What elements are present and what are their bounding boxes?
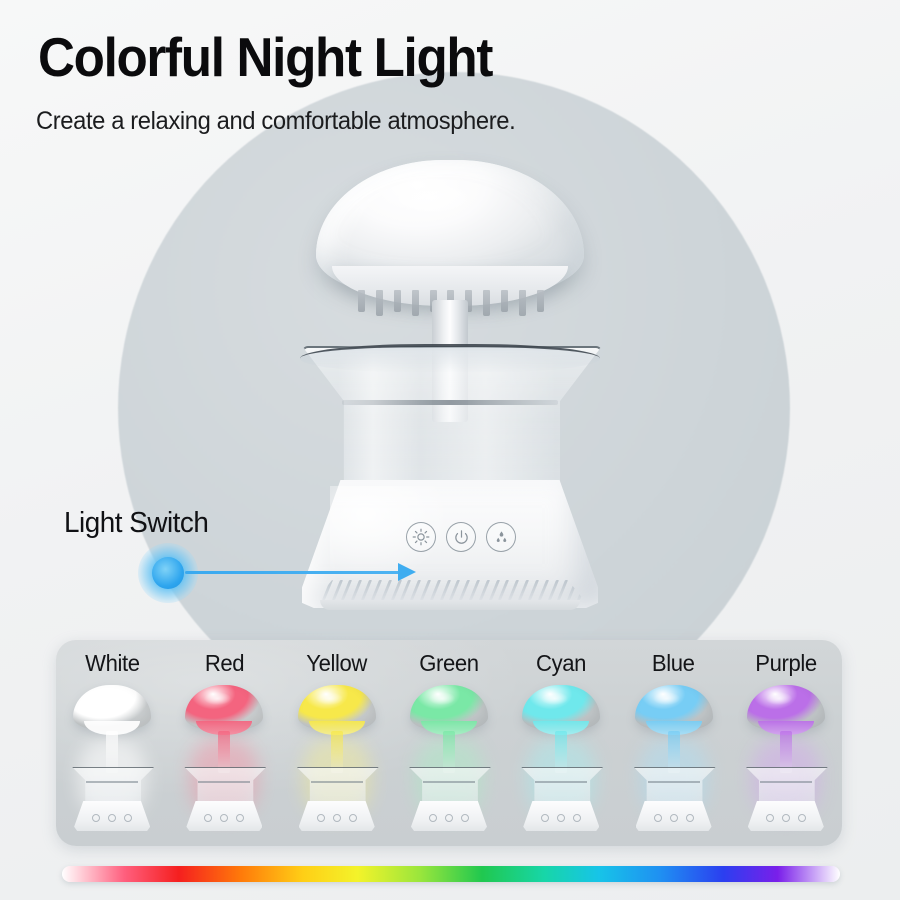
color-swatch-blue[interactable]: Blue (617, 640, 729, 846)
mini-mist-icon (573, 814, 581, 822)
mini-controls (429, 814, 469, 821)
control-panel (406, 522, 516, 552)
mini-brightness-icon (92, 814, 100, 822)
mist-button[interactable] (486, 522, 516, 552)
mini-power-icon (782, 814, 790, 822)
page-subtitle: Create a relaxing and comfortable atmosp… (36, 105, 515, 137)
color-swatch-label: Green (419, 650, 478, 677)
rainbow-gradient-bar (62, 866, 840, 882)
mini-power-icon (108, 814, 116, 822)
mini-product-purple (734, 681, 838, 833)
mini-product-blue (622, 681, 726, 833)
mini-water-line (311, 781, 363, 783)
color-swatch-label: Yellow (306, 650, 367, 677)
mini-stem (443, 731, 455, 773)
mini-brightness-icon (541, 814, 549, 822)
mini-brightness-icon (766, 814, 774, 822)
mini-water-line (535, 781, 587, 783)
mini-product-red (172, 681, 276, 833)
light-switch-label: Light Switch (64, 507, 208, 540)
mini-water-line (423, 781, 475, 783)
callout-glow-core (152, 557, 184, 589)
mini-controls (654, 814, 694, 821)
mini-brightness-icon (204, 814, 212, 822)
mini-water-line (760, 781, 812, 783)
mist-droplets-icon (493, 529, 510, 546)
mini-controls (317, 814, 357, 821)
mini-water-line (86, 781, 138, 783)
mini-mist-icon (124, 814, 132, 822)
mini-brightness-icon (429, 814, 437, 822)
color-swatch-cyan[interactable]: Cyan (505, 640, 617, 846)
mini-product-white (60, 681, 164, 833)
color-swatch-label: White (85, 650, 140, 677)
mini-product-green (397, 681, 501, 833)
spectrum-bar-wrap (62, 866, 840, 882)
mini-controls (766, 814, 806, 821)
mini-stem (106, 731, 118, 773)
base-vents (316, 580, 584, 600)
mini-stem (331, 731, 343, 773)
color-swatch-label: Purple (755, 650, 817, 677)
brightness-button[interactable] (406, 522, 436, 552)
product-image (280, 150, 620, 630)
power-icon (453, 529, 470, 546)
tank-rim (300, 344, 600, 373)
mini-power-icon (670, 814, 678, 822)
mini-stem (555, 731, 567, 773)
mini-mist-icon (686, 814, 694, 822)
color-swatch-label: Cyan (536, 650, 586, 677)
mini-power-icon (445, 814, 453, 822)
mini-mist-icon (798, 814, 806, 822)
mini-controls (204, 814, 244, 821)
mini-brightness-icon (654, 814, 662, 822)
mini-stem (780, 731, 792, 773)
callout-line (185, 571, 410, 574)
color-swatch-label: Blue (652, 650, 695, 677)
power-button[interactable] (446, 522, 476, 552)
sun-icon (412, 528, 430, 546)
water-line (342, 400, 558, 405)
color-swatch-red[interactable]: Red (168, 640, 280, 846)
mini-mist-icon (236, 814, 244, 822)
mini-water-line (648, 781, 700, 783)
callout-arrow-icon (398, 563, 416, 581)
mini-product-cyan (509, 681, 613, 833)
mini-power-icon (333, 814, 341, 822)
mini-controls (541, 814, 581, 821)
mini-power-icon (220, 814, 228, 822)
base-foot (320, 600, 580, 610)
page-title: Colorful Night Light (38, 26, 492, 88)
product-feature-page: Colorful Night Light Create a relaxing a… (0, 0, 900, 900)
mini-mist-icon (461, 814, 469, 822)
color-swatch-white[interactable]: White (56, 640, 168, 846)
color-swatch-list: WhiteRedYellowGreenCyanBluePurple (56, 640, 842, 846)
color-swatch-purple[interactable]: Purple (730, 640, 842, 846)
color-swatch-yellow[interactable]: Yellow (281, 640, 393, 846)
color-swatch-label: Red (205, 650, 244, 677)
mini-brightness-icon (317, 814, 325, 822)
mini-water-line (198, 781, 250, 783)
mini-mist-icon (349, 814, 357, 822)
color-options-panel: WhiteRedYellowGreenCyanBluePurple (56, 640, 842, 846)
mini-stem (668, 731, 680, 773)
color-swatch-green[interactable]: Green (393, 640, 505, 846)
mini-controls (92, 814, 132, 821)
mini-power-icon (557, 814, 565, 822)
mini-product-yellow (285, 681, 389, 833)
mini-stem (218, 731, 230, 773)
